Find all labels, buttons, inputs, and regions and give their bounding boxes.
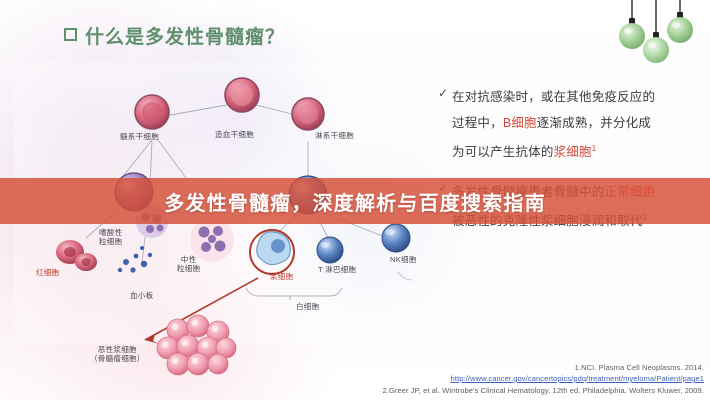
diagram-label-lymphoid-stem-cell: 淋系干细胞 — [315, 131, 354, 140]
overlay-title: 多发性骨髓瘤，深度解析与百度搜索指南 — [0, 178, 710, 224]
diagram-label-eosinophil: 嗜酸性粒细胞 — [99, 228, 122, 246]
paragraph-b-cell: 在对抗感染时，或在其他免疫反应的过程中，B细胞逐渐成熟，并分化成为可以产生抗体的… — [452, 84, 702, 165]
pendant-lamp-icon — [610, 0, 702, 72]
diagram-label-plasma-cell: 浆细胞 — [270, 272, 293, 281]
paragraph-b-cell-line-3: 为可以产生抗体的浆细胞1 — [452, 136, 702, 165]
paragraph-b-cell-line-2: 过程中，B细胞逐渐成熟，并分化成 — [452, 110, 702, 136]
slide-image: 什么是多发性骨髓瘤？ — [0, 0, 710, 400]
diagram-label-red-blood-cell: 红细胞 — [36, 268, 59, 277]
citation-1: 1.NCI. Plasma Cell Neoplasms. 2014. — [234, 362, 704, 374]
diagram-label-t-lymphocyte: T 淋巴细胞 — [318, 265, 356, 274]
checkmark-icon: ✓ — [438, 86, 448, 100]
overlay-title-text: 多发性骨髓瘤，深度解析与百度搜索指南 — [164, 187, 546, 216]
citation-2: 2.Greer JP, et al. Wintrobe's Clinical H… — [234, 385, 704, 397]
diagram-label-myeloid-stem-cell: 髓系干细胞 — [120, 132, 159, 141]
diagram-label-hematopoietic-stem-cell: 造血干细胞 — [215, 130, 254, 139]
diagram-label-white-blood-cell: 白细胞 — [296, 302, 319, 311]
diagram-label-platelet: 血小板 — [130, 291, 153, 300]
citation-block: 1.NCI. Plasma Cell Neoplasms. 2014. http… — [234, 362, 704, 397]
diagram-label-neutrophil: 中性粒细胞 — [177, 255, 200, 273]
diagram-label-nk-cell: NK细胞 — [390, 255, 417, 264]
paragraph-b-cell-line-1: 在对抗感染时，或在其他免疫反应的 — [452, 84, 702, 110]
diagram-label-malignant-plasma-cell: 恶性浆细胞（骨髓瘤细胞） — [90, 345, 145, 363]
citation-url-link[interactable]: http://www.cancer.gov/cancertopics/pdq/t… — [234, 373, 704, 385]
